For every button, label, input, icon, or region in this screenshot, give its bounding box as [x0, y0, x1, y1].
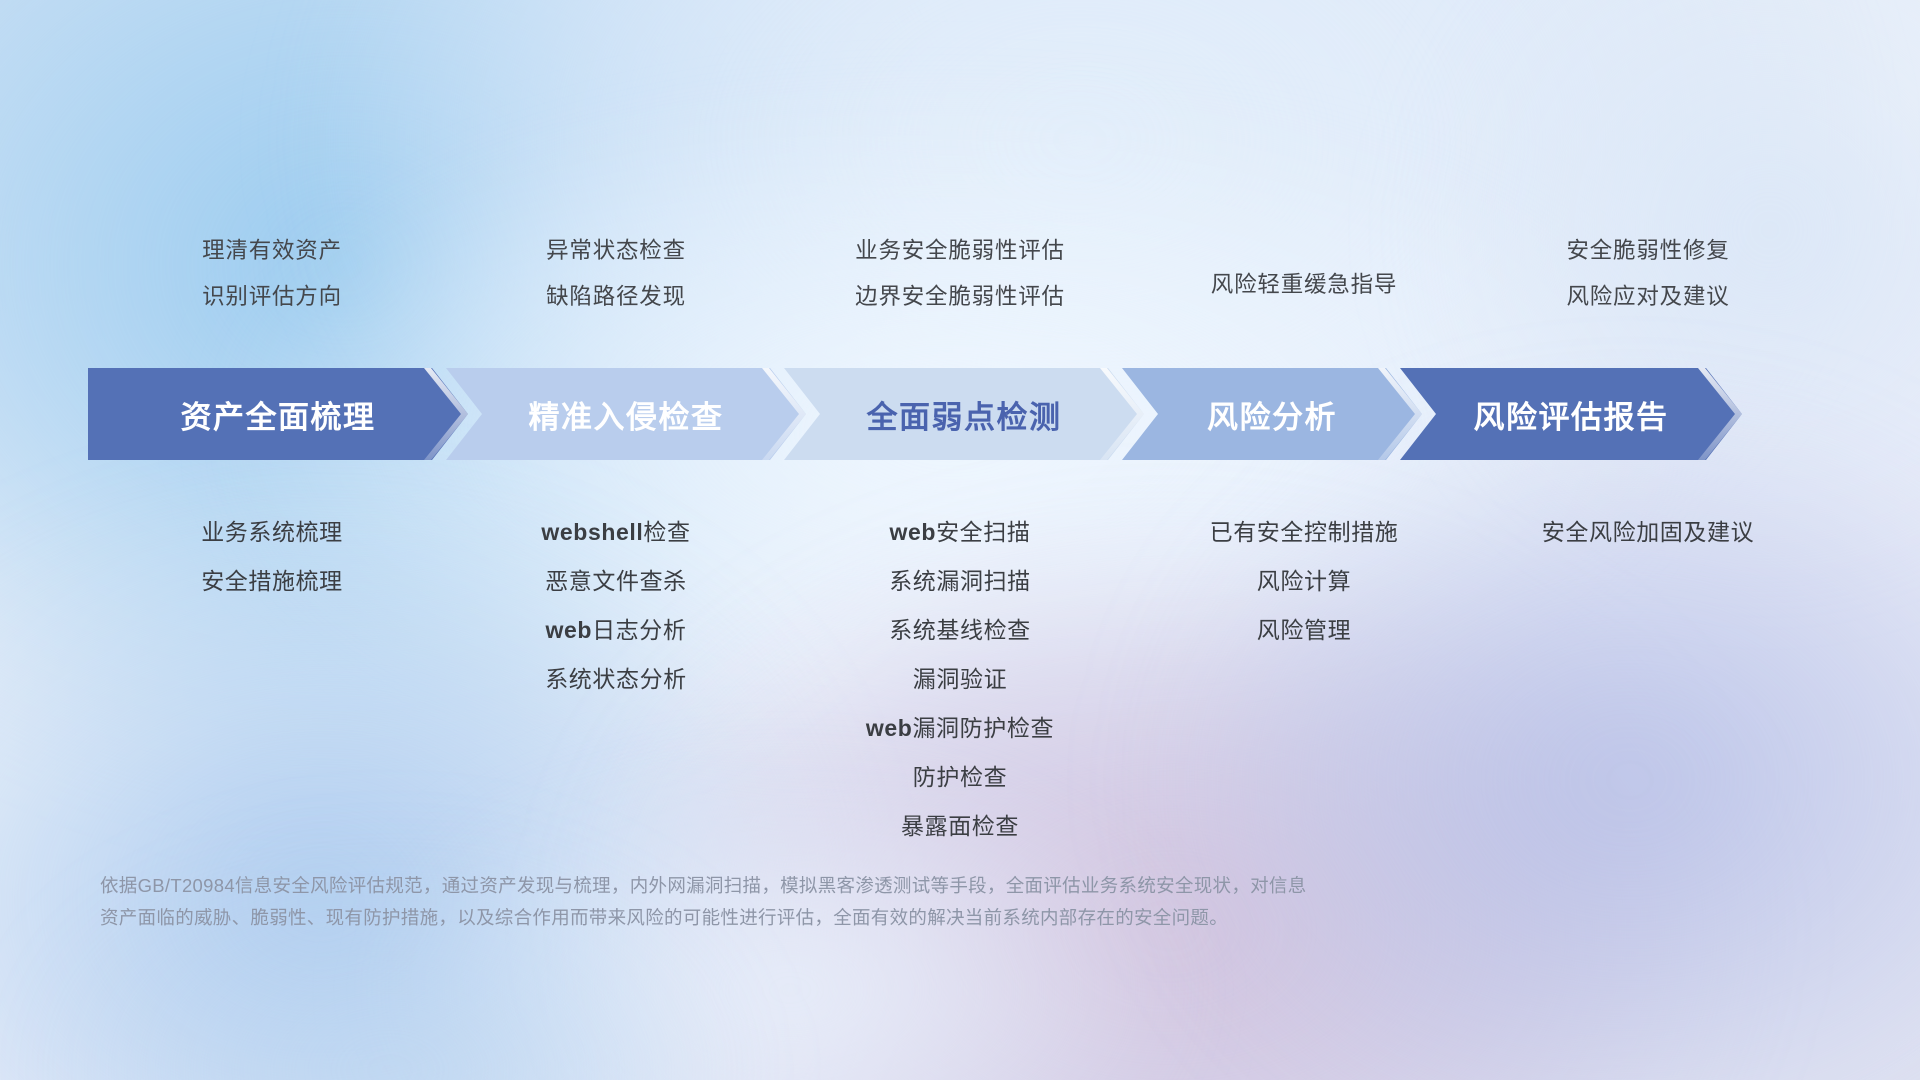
footer-description: 依据GB/T20984信息安全风险评估规范，通过资产发现与梳理，内外网漏洞扫描，…	[100, 870, 1620, 934]
stage-chevron-label: 风险评估报告	[1474, 392, 1669, 437]
bottom-label-cjk: 漏洞验证	[913, 666, 1007, 692]
top-label-column-5: 安全脆弱性修复 风险应对及建议	[1476, 228, 1820, 320]
stage-chevron-4[interactable]: 风险分析	[1122, 368, 1422, 460]
stage-chevron-label: 风险分析	[1207, 392, 1337, 437]
bottom-label-item: 业务系统梳理	[201, 508, 343, 557]
bottom-label-item: web日志分析	[546, 606, 687, 655]
top-label-text: 风险应对及建议	[1566, 274, 1729, 320]
bottom-label-column-4: 已有安全控制措施风险计算风险管理	[1132, 508, 1476, 655]
top-label-text: 边界安全脆弱性评估	[855, 274, 1065, 320]
bottom-label-item: webshell检查	[541, 508, 690, 557]
bottom-label-cjk: 系统漏洞扫描	[889, 568, 1031, 594]
top-label-column-4: 风险轻重缓急指导	[1132, 228, 1476, 308]
stage-chevron-3[interactable]: 全面弱点检测	[784, 368, 1144, 460]
bottom-label-item: web安全扫描	[890, 508, 1031, 557]
footer-line-2: 资产面临的威胁、脆弱性、现有防护措施，以及综合作用而带来风险的可能性进行评估，全…	[100, 902, 1620, 934]
process-chevron-bar: 资产全面梳理精准入侵检查全面弱点检测风险分析风险评估报告	[88, 368, 1830, 460]
bottom-label-item: 安全风险加固及建议	[1542, 508, 1754, 557]
bottom-label-cjk: 安全风险加固及建议	[1542, 519, 1754, 545]
bottom-label-cjk: 安全措施梳理	[201, 568, 343, 594]
bottom-label-item: 系统漏洞扫描	[889, 557, 1031, 606]
top-label-text: 安全脆弱性修复	[1566, 228, 1729, 274]
bottom-label-cjk: 防护检查	[913, 764, 1007, 790]
bottom-label-item: 安全措施梳理	[201, 557, 343, 606]
bottom-label-item: 风险管理	[1257, 606, 1351, 655]
bottom-label-cjk: 业务系统梳理	[201, 519, 343, 545]
bottom-label-latin: web	[546, 617, 593, 643]
bottom-label-latin: webshell	[541, 519, 643, 545]
bottom-label-item: 防护检查	[913, 753, 1007, 802]
top-label-text: 异常状态检查	[546, 228, 686, 274]
bottom-label-item: 已有安全控制措施	[1210, 508, 1399, 557]
bottom-label-column-1: 业务系统梳理安全措施梳理	[100, 508, 444, 606]
bottom-label-item: 漏洞验证	[913, 655, 1007, 704]
top-label-text: 理清有效资产	[202, 228, 342, 274]
bottom-label-item: 系统状态分析	[545, 655, 687, 704]
top-label-text: 识别评估方向	[202, 274, 342, 320]
bottom-label-item: web漏洞防护检查	[866, 704, 1054, 753]
bottom-label-cjk: 漏洞防护检查	[912, 715, 1054, 741]
bottom-label-cjk: 暴露面检查	[901, 813, 1019, 839]
top-label-column-1: 理清有效资产 识别评估方向	[100, 228, 444, 320]
bottom-label-cjk: 风险计算	[1257, 568, 1351, 594]
bottom-label-latin: web	[890, 519, 937, 545]
bottom-label-column-3: web安全扫描系统漏洞扫描系统基线检查漏洞验证web漏洞防护检查防护检查暴露面检…	[788, 508, 1132, 851]
bottom-label-cjk: 检查	[643, 519, 690, 545]
bottom-label-cjk: 恶意文件查杀	[545, 568, 687, 594]
stage-chevron-label: 全面弱点检测	[867, 392, 1062, 437]
top-label-column-2: 异常状态检查 缺陷路径发现	[444, 228, 788, 320]
top-label-row: 理清有效资产 识别评估方向 异常状态检查 缺陷路径发现 业务安全脆弱性评估 边界…	[100, 228, 1820, 338]
stage-chevron-2[interactable]: 精准入侵检查	[446, 368, 806, 460]
bottom-label-cjk: 系统基线检查	[889, 617, 1031, 643]
bottom-label-item: 恶意文件查杀	[545, 557, 687, 606]
bottom-label-item: 暴露面检查	[901, 802, 1019, 851]
bottom-label-item: 系统基线检查	[889, 606, 1031, 655]
stage-chevron-label: 精准入侵检查	[529, 392, 724, 437]
bottom-label-cjk: 已有安全控制措施	[1210, 519, 1399, 545]
bottom-label-cjk: 安全扫描	[936, 519, 1030, 545]
top-label-column-3: 业务安全脆弱性评估 边界安全脆弱性评估	[788, 228, 1132, 320]
bottom-label-column-2: webshell检查恶意文件查杀web日志分析系统状态分析	[444, 508, 788, 704]
bottom-label-cjk: 系统状态分析	[545, 666, 687, 692]
bottom-label-column-5: 安全风险加固及建议	[1476, 508, 1820, 557]
bottom-label-row: 业务系统梳理安全措施梳理webshell检查恶意文件查杀web日志分析系统状态分…	[100, 508, 1820, 851]
top-label-text: 业务安全脆弱性评估	[855, 228, 1065, 274]
top-label-text: 风险轻重缓急指导	[1211, 262, 1397, 308]
bottom-label-cjk: 日志分析	[592, 617, 686, 643]
top-label-text: 缺陷路径发现	[546, 274, 686, 320]
footer-line-1: 依据GB/T20984信息安全风险评估规范，通过资产发现与梳理，内外网漏洞扫描，…	[100, 870, 1620, 902]
stage-chevron-5[interactable]: 风险评估报告	[1400, 368, 1742, 460]
diagram-content: 理清有效资产 识别评估方向 异常状态检查 缺陷路径发现 业务安全脆弱性评估 边界…	[0, 0, 1920, 1080]
bottom-label-item: 风险计算	[1257, 557, 1351, 606]
bottom-label-latin: web	[866, 715, 913, 741]
stage-chevron-label: 资产全面梳理	[181, 392, 376, 437]
bottom-label-cjk: 风险管理	[1257, 617, 1351, 643]
stage-chevron-1[interactable]: 资产全面梳理	[88, 368, 468, 460]
